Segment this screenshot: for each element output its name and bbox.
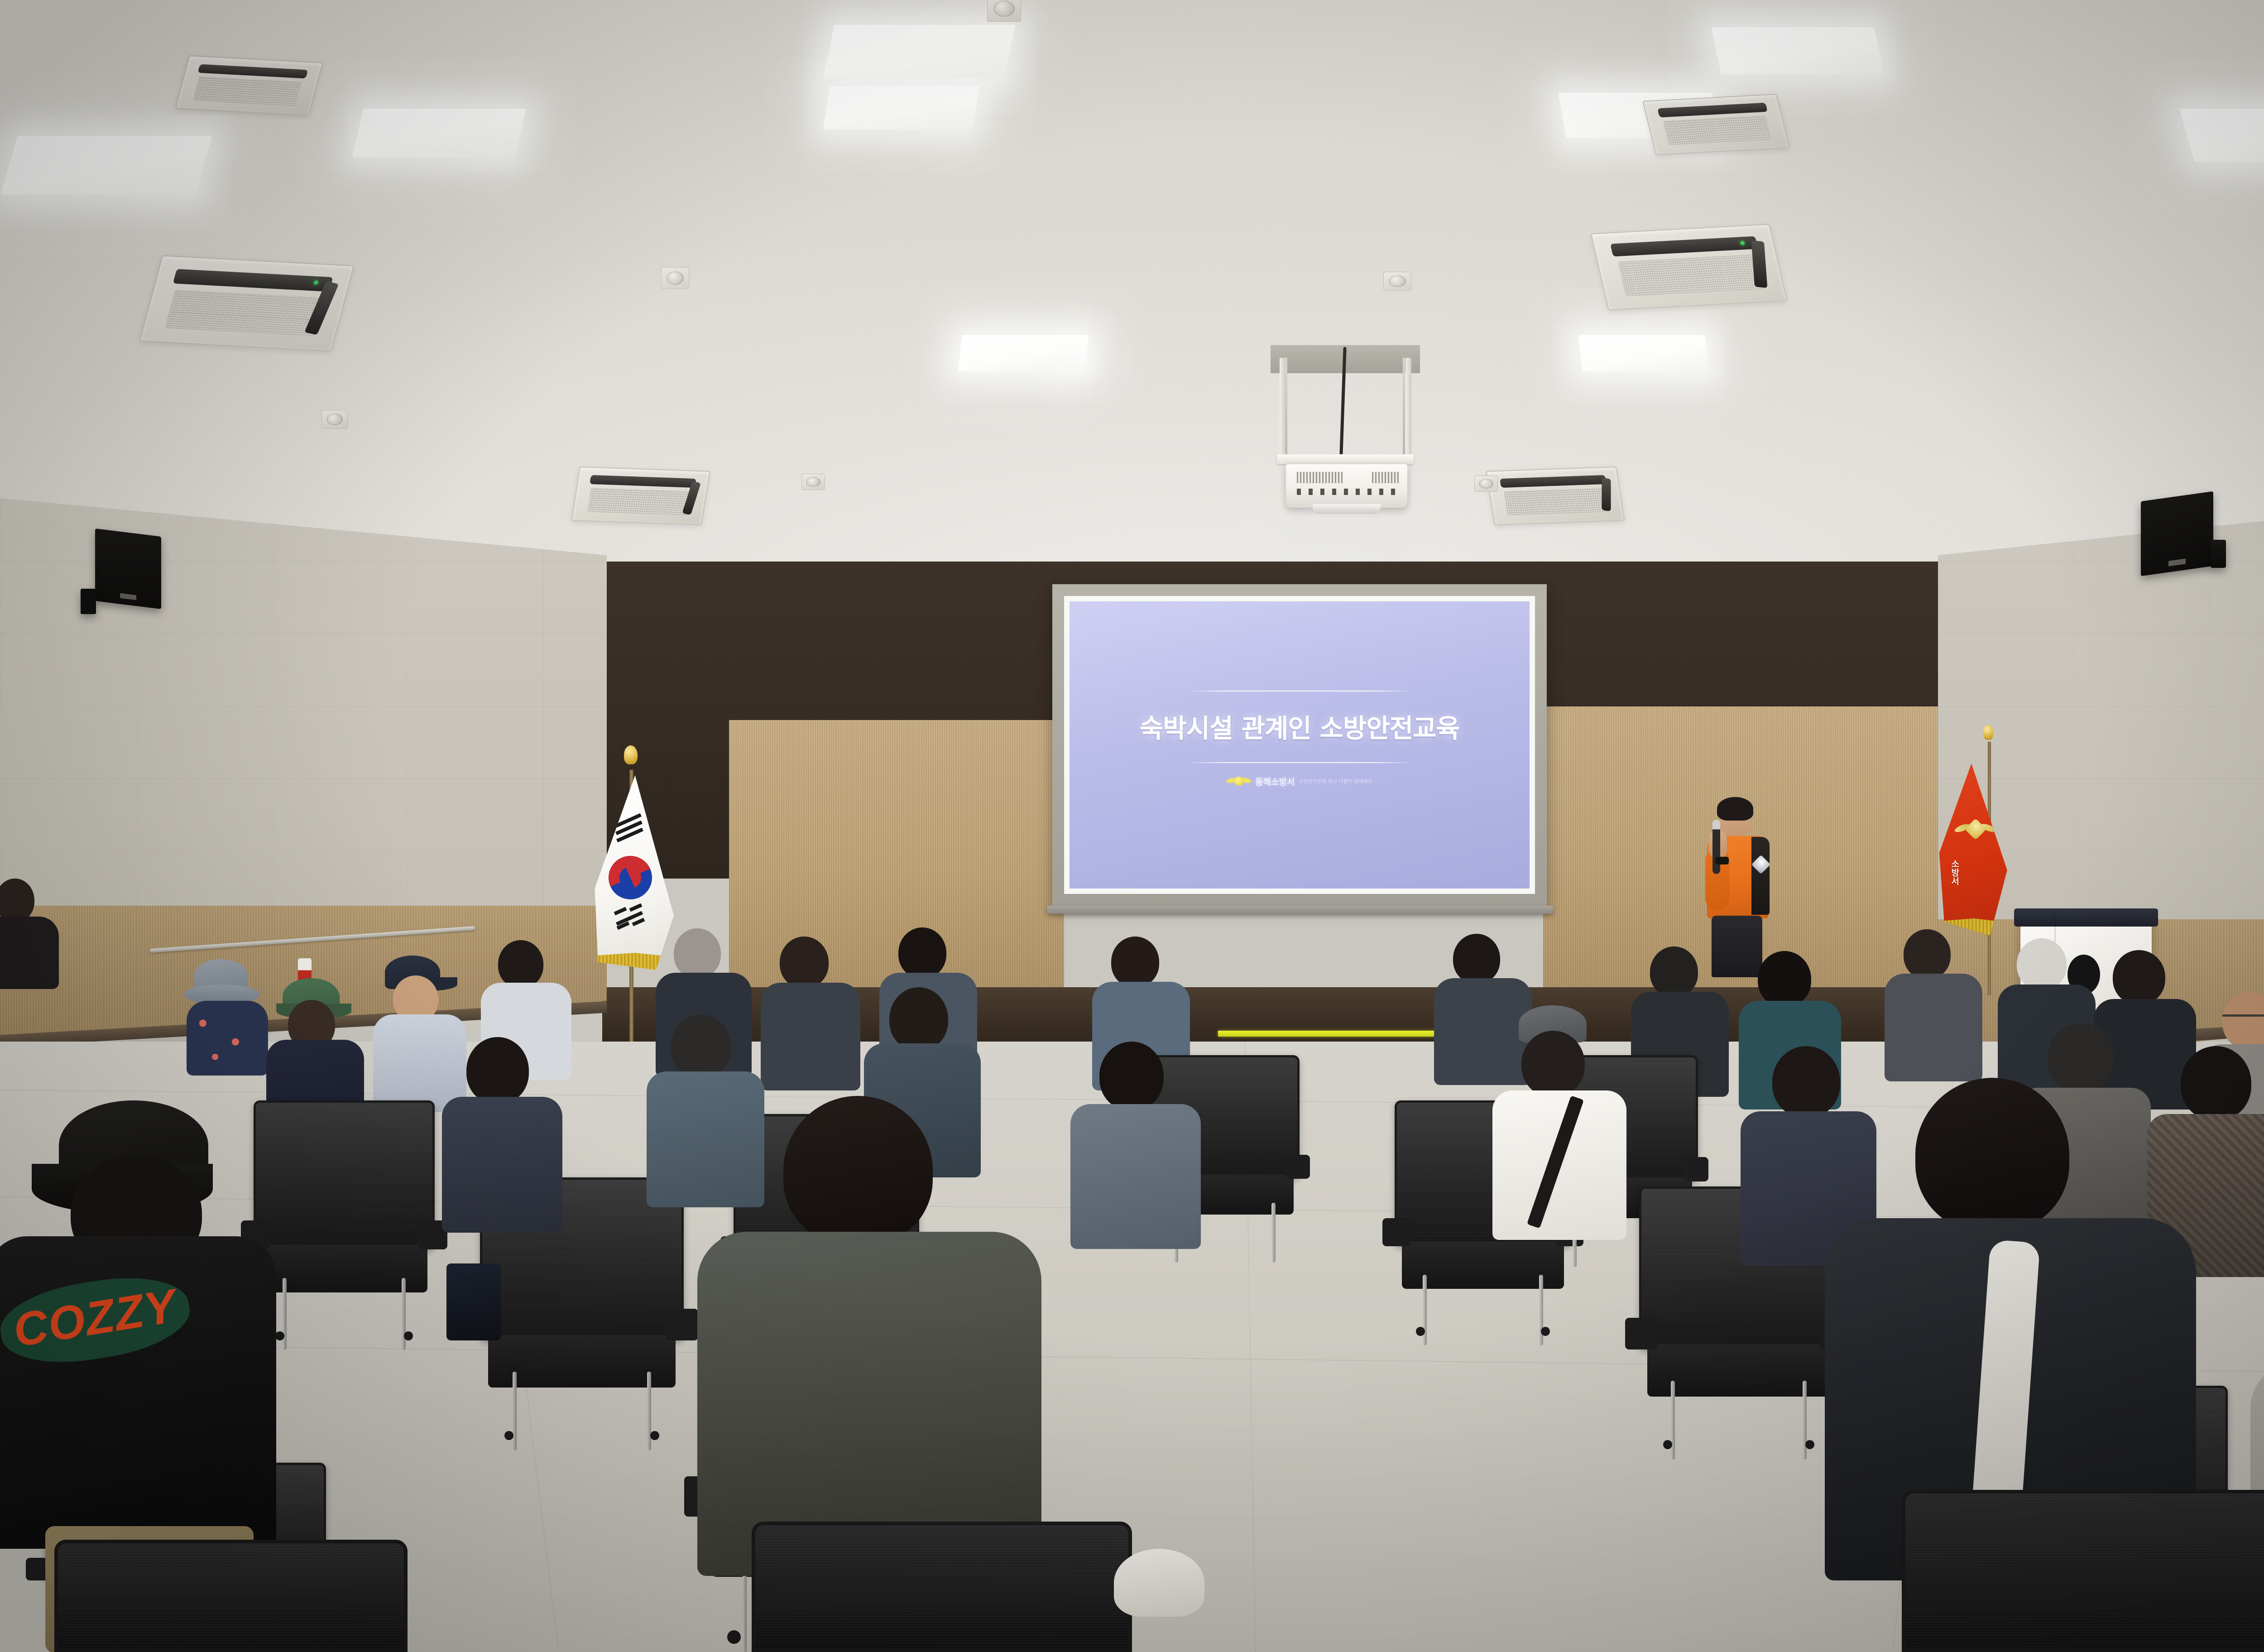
- sprinkler-head: [801, 474, 825, 490]
- projector-lens: [1313, 504, 1381, 514]
- ceiling-led-panel: [2179, 109, 2264, 162]
- fire-service-emblem-icon: [1956, 817, 1995, 843]
- ceiling-led-panel: [352, 109, 527, 158]
- slide-rule-top: [1185, 691, 1415, 692]
- ceiling-led-panel: [0, 136, 212, 195]
- ceiling-speaker: [661, 267, 689, 289]
- wall-speaker-bracket: [2211, 540, 2226, 568]
- projector-lift-rail: [1405, 358, 1411, 462]
- wall-speaker: [2141, 491, 2213, 576]
- projector-lift-rod: [1403, 358, 1405, 462]
- chair-back-foreground[interactable]: [752, 1522, 1132, 1652]
- ceiling-ac-unit: [1486, 466, 1625, 525]
- slide-organization-name: 동해소방서: [1255, 775, 1295, 788]
- slide-rule-bottom: [1185, 762, 1415, 763]
- wood-wall-panel: [729, 720, 1064, 992]
- ceiling-led-panel: [1711, 27, 1884, 74]
- projector-lift-rail: [1280, 358, 1285, 462]
- screen-bottom-bar: [1047, 906, 1553, 914]
- sprinkler-head: [321, 410, 348, 429]
- auditorium-scene: 숙박시설 관계인 소방안전교육 동해소방서 소방안전문화 확산 더불어 함께해요: [0, 0, 2264, 1652]
- projector-mount-plate: [1277, 454, 1414, 464]
- bag-on-floor: [446, 1263, 501, 1340]
- slide-tagline: 소방안전문화 확산 더불어 함께해요: [1299, 778, 1372, 785]
- presenter: [1693, 800, 1784, 976]
- presenter-uniform-shoulder: [1751, 837, 1770, 915]
- ceiling-speaker: [1383, 272, 1411, 291]
- ceiling-ac-unit: [175, 55, 323, 116]
- projector: [1286, 464, 1407, 508]
- ceiling-ac-unit: [571, 466, 710, 525]
- presenter-watch: [1715, 857, 1729, 864]
- ceiling-ac-unit: [139, 255, 355, 352]
- bag-on-floor: [1114, 1549, 1204, 1617]
- chair[interactable]: [254, 1100, 435, 1340]
- stage-edge-safety-strip: [1218, 1031, 1463, 1037]
- taeguk-symbol-icon: [602, 849, 659, 907]
- ceiling-ac-unit: [1591, 224, 1787, 311]
- fire-flag-text: 소방서: [1949, 860, 1960, 885]
- sprinkler-head: [1474, 475, 1498, 492]
- slide-title: 숙박시설 관계인 소방안전교육: [1070, 708, 1530, 745]
- ceiling-led-panel: [1578, 335, 1709, 371]
- microphone: [1712, 820, 1720, 874]
- presenter-hair: [1717, 797, 1753, 821]
- fire-flag-finial-icon: [1983, 725, 1993, 740]
- ceiling-led-panel: [823, 86, 979, 130]
- chair-back-foreground[interactable]: [1902, 1490, 2264, 1652]
- ceiling-led-panel: [958, 335, 1089, 371]
- projection-screen: 숙박시설 관계인 소방안전교육 동해소방서 소방안전문화 확산 더불어 함께해요: [1052, 584, 1547, 906]
- ceiling-led-panel: [823, 25, 1015, 78]
- wall-speaker: [95, 528, 161, 609]
- presenter-trousers: [1712, 916, 1762, 977]
- chair-back-foreground[interactable]: [54, 1540, 408, 1652]
- ceiling-ac-unit: [1642, 94, 1790, 155]
- wall-speaker-bracket: [81, 589, 96, 614]
- slide-footer: 동해소방서 소방안전문화 확산 더불어 함께해요: [1070, 775, 1530, 788]
- presentation-slide: 숙박시설 관계인 소방안전교육 동해소방서 소방안전문화 확산 더불어 함께해요: [1070, 601, 1530, 888]
- sprinkler-head: [987, 0, 1021, 22]
- fire-service-emblem-icon: [1227, 775, 1251, 787]
- korea-flag-finial-icon: [624, 745, 638, 764]
- eyeglasses-icon: [2222, 1014, 2264, 1023]
